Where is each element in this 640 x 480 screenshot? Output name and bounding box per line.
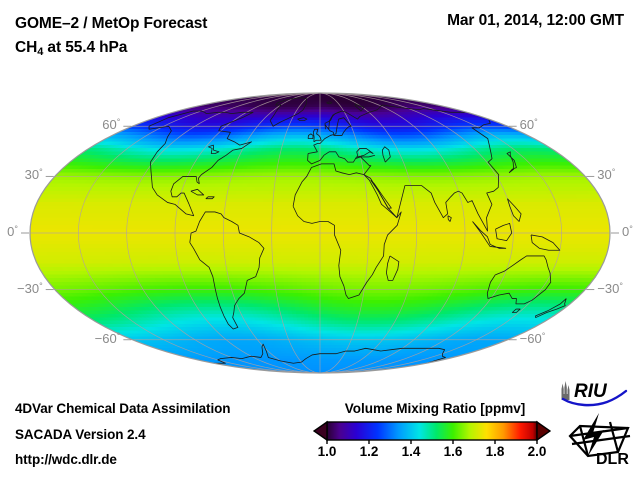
riu-tower-icon xyxy=(562,381,570,400)
instrument-title: GOME–2 / MetOp Forecast xyxy=(15,15,207,32)
lat-label-right-0: 0° xyxy=(622,224,633,239)
dlr-logo: DLR xyxy=(566,410,634,468)
colorbar-low-cap xyxy=(314,422,327,440)
lat-label-left-0: 0° xyxy=(7,224,18,239)
lat-label-left-30: 30° xyxy=(25,167,43,182)
colorbar-title: Volume Mixing Ratio [ppmv] xyxy=(330,401,540,416)
riu-wordmark: RIU xyxy=(574,381,608,402)
colorbar-high-cap xyxy=(537,422,550,440)
lat-label-right-m60: −60° xyxy=(520,331,546,346)
colorbar-tick-1-4: 1.4 xyxy=(402,444,421,459)
colorbar-tick-1-0: 1.0 xyxy=(318,444,337,459)
riu-logo: RIU xyxy=(557,378,633,408)
lat-label-left-m60: −60° xyxy=(95,331,121,346)
colorbar-gradient-svg xyxy=(313,418,551,444)
colorbar-tick-1-8: 1.8 xyxy=(486,444,505,459)
lat-label-right-m30: −30° xyxy=(597,281,623,296)
version-label: SACADA Version 2.4 xyxy=(15,427,146,442)
colorbar-gradient-bar xyxy=(327,422,537,440)
colorbar-tick-1-6: 1.6 xyxy=(444,444,463,459)
colorbar-tick-1-2: 1.2 xyxy=(360,444,379,459)
lat-label-left-m30: −30° xyxy=(17,281,43,296)
colorbar xyxy=(313,418,551,444)
species-level-label: CH4 at 55.4 hPa xyxy=(15,36,207,64)
url-label[interactable]: http://wdc.dlr.de xyxy=(15,452,117,467)
method-label: 4DVar Chemical Data Assimilation xyxy=(15,401,230,416)
lat-label-left-60: 60° xyxy=(102,117,120,132)
dlr-wordmark: DLR xyxy=(596,451,629,468)
colorbar-tick-labels: 1.01.21.41.61.82.0 xyxy=(313,444,551,464)
world-map: 60° 30° 0° −30° −60° 60° 30° 0° −30° −60… xyxy=(0,86,640,386)
colorbar-tick-2-0: 2.0 xyxy=(528,444,547,459)
lat-label-right-30: 30° xyxy=(597,167,615,182)
dlr-emblem-icon xyxy=(570,413,630,456)
lat-label-right-60: 60° xyxy=(520,117,538,132)
figure-title: GOME–2 / MetOp Forecast CH4 at 55.4 hPa xyxy=(15,12,207,64)
timestamp-label: Mar 01, 2014, 12:00 GMT xyxy=(447,12,624,30)
figure-canvas: GOME–2 / MetOp Forecast CH4 at 55.4 hPa … xyxy=(0,0,640,480)
